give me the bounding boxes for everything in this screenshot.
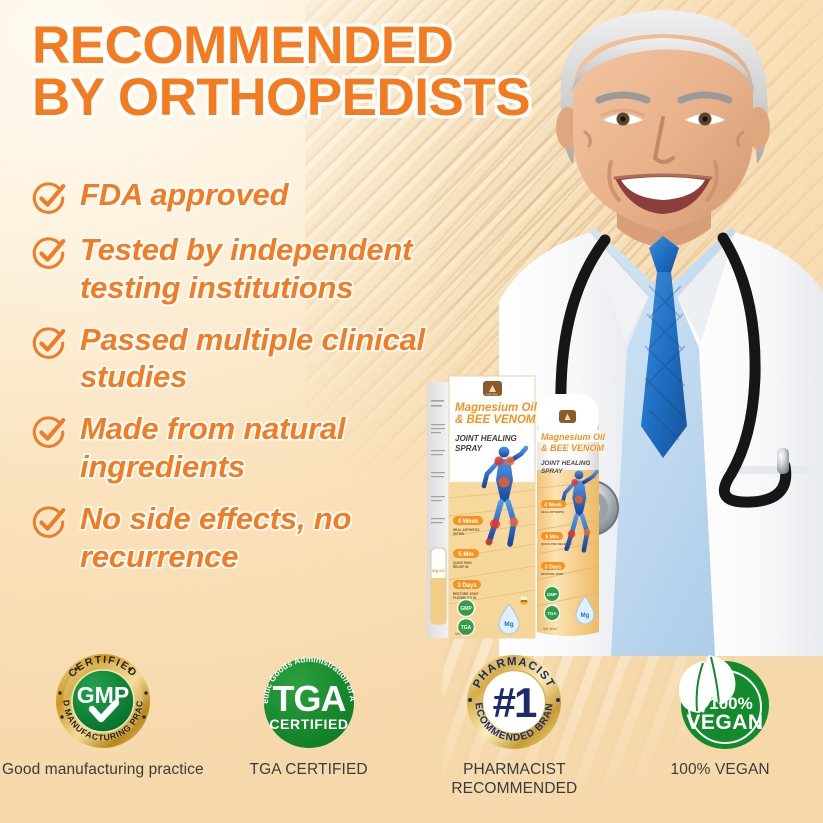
svg-text:& BEE VENOM: & BEE VENOM xyxy=(455,414,536,426)
benefit-list: FDA approved Tested by independent testi… xyxy=(30,176,460,590)
svg-text:RESTORE JOINT: RESTORE JOINT xyxy=(541,572,564,576)
advertisement-poster: RECOMMENDED BY ORTHOPEDISTS FDA approved… xyxy=(0,0,823,823)
check-circle-icon xyxy=(30,503,68,541)
list-item-label: Made from natural ingredients xyxy=(80,410,460,486)
svg-text:GMP: GMP xyxy=(547,592,557,597)
svg-text:Net: 60ml: Net: 60ml xyxy=(455,632,470,636)
svg-text:NATURAL: NATURAL xyxy=(487,392,499,396)
badge-vegan: 100% VEGAN 100% VEGAN xyxy=(617,645,823,799)
svg-text:GMP: GMP xyxy=(460,606,472,612)
pharmacist-badge-icon: PHARMACIST RECOMMENDED BRAND #1 xyxy=(453,645,575,757)
badge-tga: Therapeutic Goods Administration of Aust… xyxy=(206,645,412,799)
svg-text:5 Min: 5 Min xyxy=(545,534,558,540)
headline-line-2: BY ORTHOPEDISTS xyxy=(32,72,632,124)
check-circle-icon xyxy=(30,324,68,362)
badge-gmp: CERTIFIED GOOD MANUFACTURING PRACTICE GM… xyxy=(0,645,206,799)
check-circle-icon xyxy=(30,234,68,272)
svg-text:#1: #1 xyxy=(493,679,537,726)
gmp-badge-icon: CERTIFIED GOOD MANUFACTURING PRACTICE GM… xyxy=(42,645,164,757)
svg-text:3 Days: 3 Days xyxy=(457,583,477,589)
svg-text:TGA: TGA xyxy=(547,611,557,616)
badge-caption: 100% VEGAN xyxy=(671,761,770,780)
vegan-badge-icon: 100% VEGAN xyxy=(659,645,781,757)
check-circle-icon xyxy=(30,179,68,217)
svg-text:GMP: GMP xyxy=(77,682,129,708)
certification-badges: CERTIFIED GOOD MANUFACTURING PRACTICE GM… xyxy=(0,645,823,799)
svg-text:JOINT HEALING: JOINT HEALING xyxy=(455,434,517,443)
svg-text:Mg: Mg xyxy=(581,613,590,619)
list-item-label: Passed multiple clinical studies xyxy=(80,321,460,397)
badge-pharmacist: PHARMACIST RECOMMENDED BRAND #1 PHARMACI… xyxy=(412,645,618,799)
svg-text:4 Week: 4 Week xyxy=(458,519,479,525)
list-item-label: No side effects, no recurrence xyxy=(80,500,460,576)
badge-caption: TGA CERTIFIED xyxy=(250,761,368,780)
svg-text:Mg Oil: Mg Oil xyxy=(432,568,444,573)
list-item: No side effects, no recurrence xyxy=(30,500,460,576)
svg-text:RELIEF IN: RELIEF IN xyxy=(453,565,469,569)
list-item: FDA approved xyxy=(30,176,460,217)
badge-caption: Good manufacturing practice xyxy=(2,761,204,780)
tga-badge-icon: Therapeutic Goods Administration of Aust… xyxy=(248,645,370,757)
svg-text:Mg: Mg xyxy=(504,621,513,628)
svg-text:JOINT HEALING: JOINT HEALING xyxy=(541,460,590,467)
headline-line-1: RECOMMENDED xyxy=(32,16,453,75)
badge-caption-line-2: RECOMMENDED xyxy=(451,780,577,799)
svg-text:& BEE VENOM: & BEE VENOM xyxy=(541,443,605,453)
svg-text:Magnesium Oil: Magnesium Oil xyxy=(455,402,538,414)
svg-text:VEGAN: VEGAN xyxy=(687,711,764,734)
svg-text:HEAL ARTHRITIS: HEAL ARTHRITIS xyxy=(541,510,564,514)
list-item-label: Tested by independent testing institutio… xyxy=(80,231,460,307)
badge-caption: PHARMACIST RECOMMENDED xyxy=(451,761,577,799)
svg-text:TGA: TGA xyxy=(461,625,472,631)
list-item-label: FDA approved xyxy=(80,176,288,214)
page-title: RECOMMENDED BY ORTHOPEDISTS xyxy=(32,20,632,125)
svg-text:SPRAY: SPRAY xyxy=(541,468,563,475)
svg-text:4 Week: 4 Week xyxy=(544,502,562,508)
svg-text:Net: 60ml: Net: 60ml xyxy=(543,627,557,631)
svg-text:TGA: TGA xyxy=(272,678,346,719)
svg-text:WITHIN: WITHIN xyxy=(453,532,465,536)
product-image: Mg Oil NATURAL Magnesium Oil & BEE VENOM… xyxy=(425,366,615,646)
list-item: Tested by independent testing institutio… xyxy=(30,231,460,307)
badge-caption-line-1: PHARMACIST xyxy=(451,761,577,780)
svg-text:Magnesium Oil: Magnesium Oil xyxy=(541,432,606,442)
check-circle-icon xyxy=(30,413,68,451)
list-item: Made from natural ingredients xyxy=(30,410,460,486)
list-item: Passed multiple clinical studies xyxy=(30,321,460,397)
svg-text:5 Min: 5 Min xyxy=(458,552,474,558)
svg-text:SPRAY: SPRAY xyxy=(455,444,483,453)
svg-text:CERTIFIED: CERTIFIED xyxy=(269,716,348,732)
svg-text:3 Days: 3 Days xyxy=(545,564,562,570)
svg-text:QUICK PAIN RELIEF IN: QUICK PAIN RELIEF IN xyxy=(541,542,572,546)
